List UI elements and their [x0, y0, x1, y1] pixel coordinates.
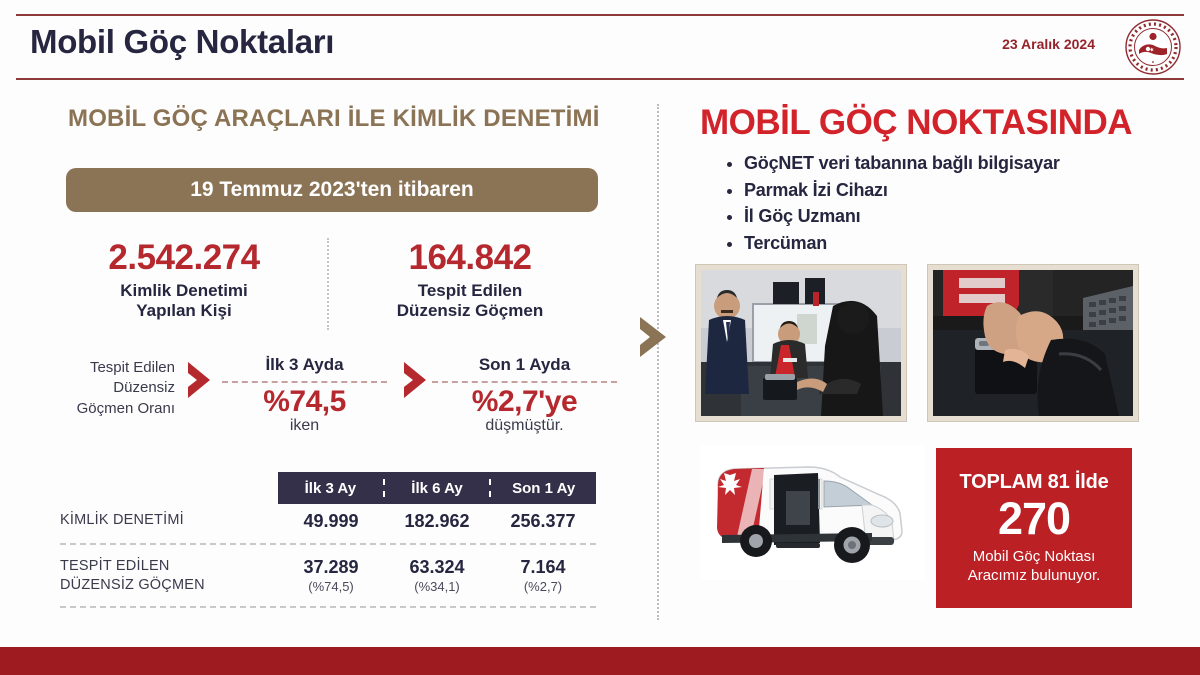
table-row-label: KİMLİK DENETİMİ: [60, 511, 278, 530]
rate-first-period: İlk 3 Ayda %74,5 iken: [222, 355, 387, 435]
callout-line3: Mobil Göç Noktası Aracımız bulunuyor.: [968, 547, 1101, 586]
header-bottom-rule: [16, 78, 1184, 80]
list-item: Parmak İzi Cihazı: [744, 177, 1174, 204]
rate-value: %74,5: [222, 385, 387, 419]
stat-value: 2.542.274: [64, 240, 304, 277]
rate-dashed-rule: [432, 381, 617, 383]
table-cell-value: 182.962: [384, 511, 490, 532]
table-cell-value: 63.324: [384, 557, 490, 578]
footer-bar: [0, 647, 1200, 675]
stats-dotted-separator: [327, 238, 329, 330]
table-column-header: Son 1 Ay: [491, 480, 596, 497]
equipment-bullet-list: GöçNET veri tabanına bağlı bilgisayar Pa…: [722, 150, 1174, 257]
list-item: İl Göç Uzmanı: [744, 203, 1174, 230]
left-panel-heading: MOBİL GÖÇ ARAÇLARI İLE KİMLİK DENETİMİ: [68, 105, 600, 133]
header-top-rule: [16, 14, 1184, 16]
rate-second-period: Son 1 Ayda %2,7'ye düşmüştür.: [432, 355, 617, 435]
table-cell-value: 7.164: [490, 557, 596, 578]
mobile-migration-van-photo: [700, 445, 925, 580]
table-column-header: İlk 6 Ay: [385, 480, 490, 497]
list-item: GöçNET veri tabanına bağlı bilgisayar: [744, 150, 1174, 177]
rate-period-label: Son 1 Ayda: [432, 355, 617, 375]
center-chevron-arrow-icon: [636, 315, 676, 359]
center-dotted-divider: [657, 104, 659, 620]
stat-identity-checks: 2.542.274 Kimlik Denetimi Yapılan Kişi: [64, 240, 304, 321]
table-row-divider: [60, 543, 596, 545]
table-cell: 256.377: [490, 511, 596, 532]
stat-label-line1: Tespit Edilen: [350, 281, 590, 301]
right-panel-heading: MOBİL GÖÇ NOKTASINDA: [700, 103, 1132, 143]
table-row-label-line2: DÜZENSİZ GÖÇMEN: [60, 576, 278, 595]
rate-value: %2,7'ye: [432, 385, 617, 419]
ministry-seal-icon: [1124, 18, 1182, 76]
stat-label-line1: Kimlik Denetimi: [64, 281, 304, 301]
table-cell-value: 49.999: [278, 511, 384, 532]
rate-period-label: İlk 3 Ayda: [222, 355, 387, 375]
rate-label-line1: Tespit Edilen: [40, 358, 175, 378]
rate-chevron-icon-2: [402, 360, 432, 400]
table-row-cells: 37.289 (%74,5) 63.324 (%34,1) 7.164 (%2,…: [278, 557, 596, 594]
table-cell-value: 256.377: [490, 511, 596, 532]
table-cell: 7.164 (%2,7): [490, 557, 596, 594]
callout-line1: TOPLAM 81 İlde: [959, 471, 1108, 494]
photo-identity-check-inside-van: [696, 265, 906, 421]
callout-line3-a: Mobil Göç Noktası: [968, 547, 1101, 567]
table-cell-value: 37.289: [278, 557, 384, 578]
table-row: KİMLİK DENETİMİ 49.999 182.962 256.377: [60, 511, 596, 532]
stat-label: Kimlik Denetimi Yapılan Kişi: [64, 281, 304, 321]
rate-chevron-icon-1: [186, 360, 216, 400]
stat-irregular-migrants: 164.842 Tespit Edilen Düzensiz Göçmen: [350, 240, 590, 321]
table-row-label-line1: TESPİT EDİLEN: [60, 557, 278, 576]
total-vehicles-callout: TOPLAM 81 İlde 270 Mobil Göç Noktası Ara…: [936, 448, 1132, 608]
table-cell: 63.324 (%34,1): [384, 557, 490, 594]
stat-label-line2: Yapılan Kişi: [64, 301, 304, 321]
rate-row-label: Tespit Edilen Düzensiz Göçmen Oranı: [40, 358, 175, 419]
stat-label: Tespit Edilen Düzensiz Göçmen: [350, 281, 590, 321]
rate-suffix: düşmüştür.: [432, 417, 617, 435]
table-bottom-divider: [60, 606, 596, 608]
date-range-pill: 19 Temmuz 2023'ten itibaren: [66, 168, 598, 212]
rate-dashed-rule: [222, 381, 387, 383]
callout-number: 270: [998, 496, 1070, 541]
page-title: Mobil Göç Noktaları: [30, 23, 334, 61]
table-row: TESPİT EDİLEN DÜZENSİZ GÖÇMEN 37.289 (%7…: [60, 557, 596, 594]
rate-label-line2: Düzensiz: [40, 378, 175, 398]
table-column-header: İlk 3 Ay: [278, 480, 383, 497]
table-cell: 49.999: [278, 511, 384, 532]
table-row-cells: 49.999 182.962 256.377: [278, 511, 596, 532]
table-row-label: TESPİT EDİLEN DÜZENSİZ GÖÇMEN: [60, 557, 278, 594]
photo-fingerprint-scanner: [928, 265, 1138, 421]
header-date: 23 Aralık 2024: [1002, 36, 1095, 52]
date-range-pill-label: 19 Temmuz 2023'ten itibaren: [190, 178, 474, 202]
callout-line3-b: Aracımız bulunuyor.: [968, 566, 1101, 586]
table-cell-percent: (%74,5): [278, 579, 384, 594]
table-cell: 37.289 (%74,5): [278, 557, 384, 594]
table-cell-percent: (%2,7): [490, 579, 596, 594]
list-item: Tercüman: [744, 230, 1174, 257]
rate-suffix: iken: [222, 417, 387, 435]
stat-value: 164.842: [350, 240, 590, 277]
infographic-page: Mobil Göç Noktaları 23 Aralık 2024 MOBİL…: [0, 0, 1200, 675]
table-cell-percent: (%34,1): [384, 579, 490, 594]
table-header: İlk 3 Ay İlk 6 Ay Son 1 Ay: [278, 472, 596, 504]
table-row-label-line1: KİMLİK DENETİMİ: [60, 511, 278, 530]
table-cell: 182.962: [384, 511, 490, 532]
stat-label-line2: Düzensiz Göçmen: [350, 301, 590, 321]
rate-label-line3: Göçmen Oranı: [40, 399, 175, 419]
